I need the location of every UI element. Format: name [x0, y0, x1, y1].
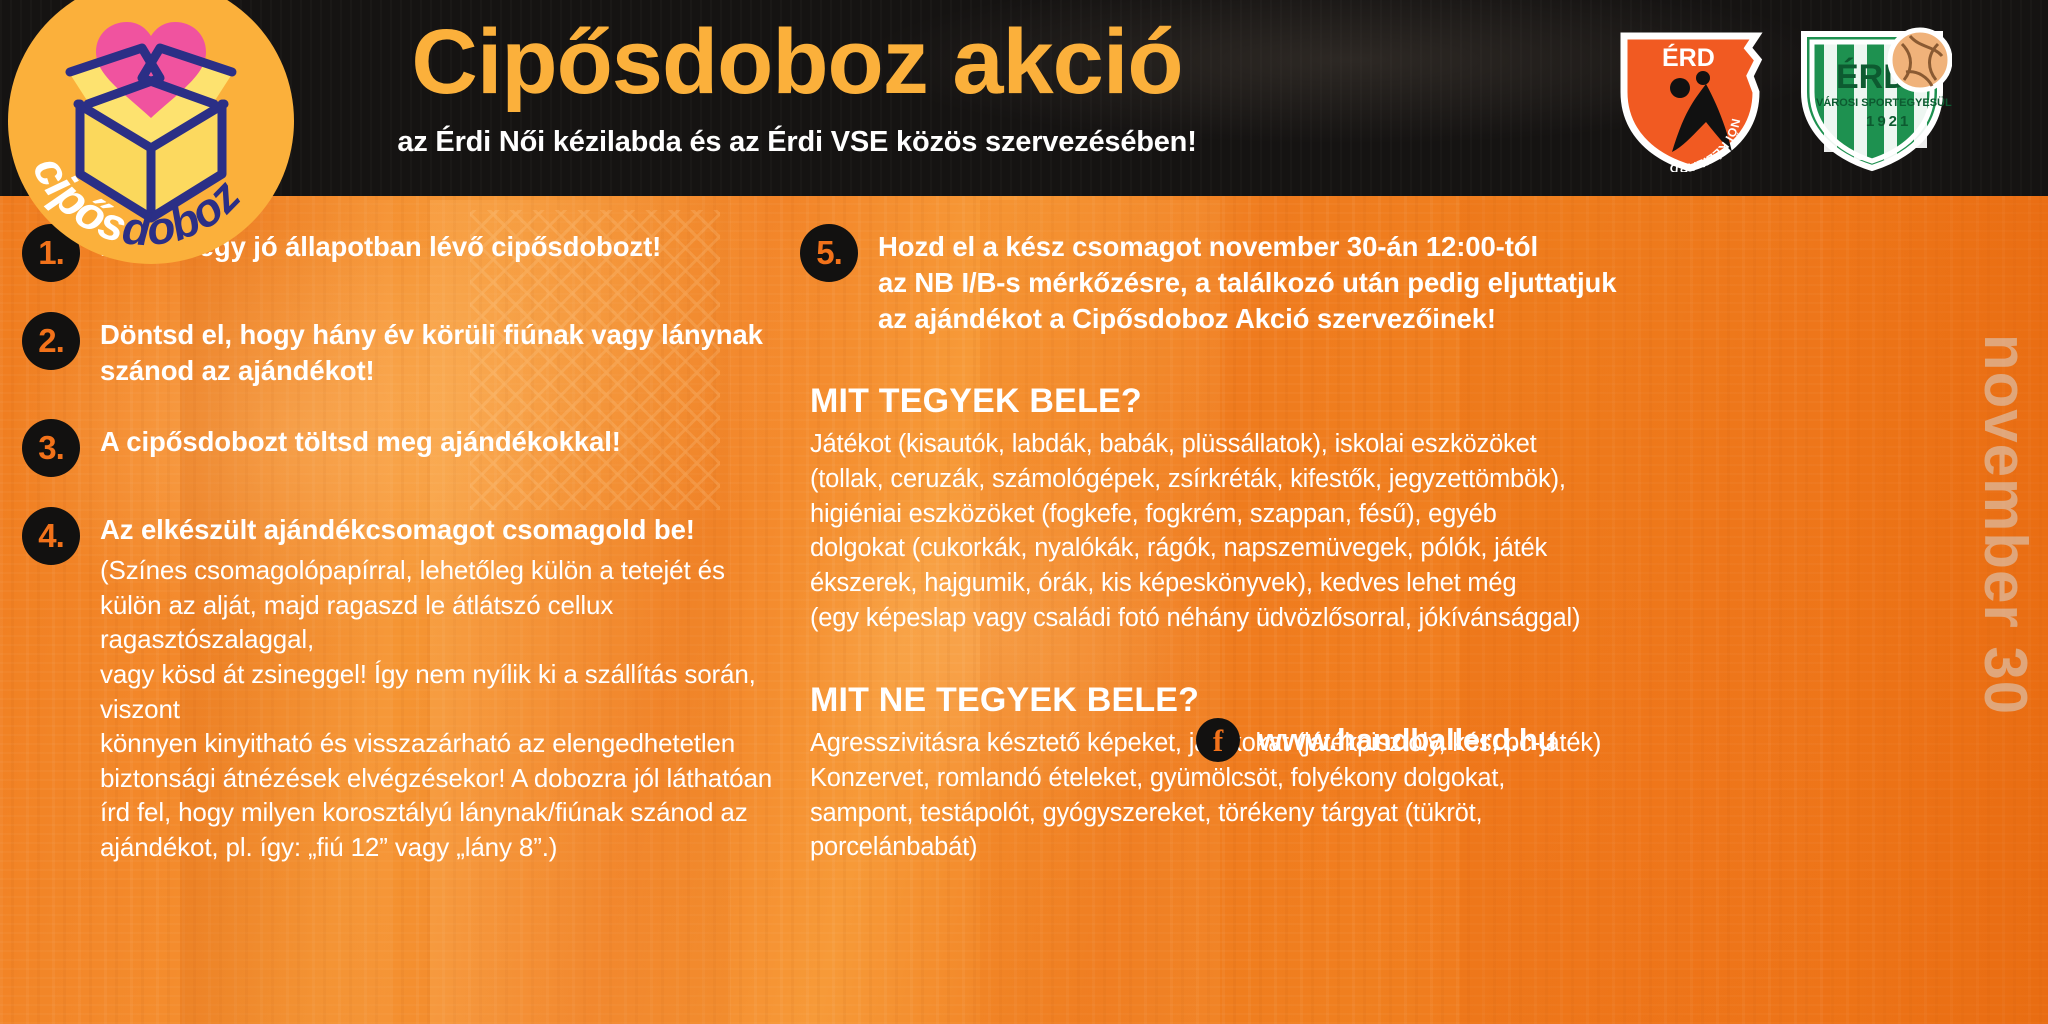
step-3: 3. A cipősdobozt töltsd meg ajándékokkal…	[22, 415, 782, 477]
step-2: 2. Döntsd el, hogy hány év körüli fiúnak…	[22, 308, 782, 389]
section-line: dolgokat (cukorkák, nyalókák, rágók, nap…	[810, 531, 1890, 566]
step-note-line: (Színes csomagolópapírral, lehetőleg kül…	[100, 553, 782, 588]
ciposdoboz-logo: cipős doboz	[8, 0, 294, 264]
page-subtitle: az Érdi Női kézilabda és az Érdi VSE köz…	[292, 126, 1302, 159]
section-mit-ne-tegyek-bele: MIT NE TEGYEK BELE? Agresszivitásra kész…	[800, 681, 1890, 865]
step-note-line: ajándékot, pl. így: „fiú 12” vagy „lány …	[100, 830, 782, 865]
crest-group: ÉRD NŐI KÉZILABDA ÉRD	[1610, 26, 2030, 172]
step-headline: Hozd el a kész csomagot november 30-án 1…	[878, 229, 1890, 265]
section-line: Konzervet, romlandó ételeket, gyümölcsöt…	[810, 761, 1890, 796]
step-number: 2.	[22, 312, 80, 370]
step-number: 3.	[22, 419, 80, 477]
footer-link[interactable]: f www.handballerd.hu	[1196, 718, 1556, 762]
step-number: 5.	[800, 224, 858, 282]
step-headline-cont: az ajándékot a Cipősdoboz Akció szervező…	[878, 301, 1890, 337]
page-title: Cipősdoboz akció	[292, 16, 1302, 108]
section-line: sampont, testápolót, gyógyszereket, töré…	[810, 796, 1890, 831]
crest-sub-label: VÁROSI SPORTEGYESÜLET	[1816, 96, 1952, 109]
step-headline-cont: az NB I/B-s mérkőzésre, a találkozó után…	[878, 265, 1890, 301]
step-headline-emphasis: november 30-án 12:00-tól	[1209, 231, 1538, 262]
section-line: Játékot (kisautók, labdák, babák, plüssá…	[810, 427, 1890, 462]
step-headline-part: Hozd el a kész csomagot	[878, 231, 1209, 262]
step-4: 4. Az elkészült ajándékcsomagot csomagol…	[22, 503, 782, 865]
crest-erd-label: ÉRD	[1662, 43, 1715, 72]
facebook-icon[interactable]: f	[1196, 718, 1240, 762]
steps-left-column: 1. Keress egy jó állapotban lévő cipősdo…	[22, 220, 782, 890]
section-title: MIT NE TEGYEK BELE?	[810, 681, 1890, 720]
section-title: MIT TEGYEK BELE?	[810, 382, 1890, 421]
section-line: (tollak, ceruzák, számológépek, zsírkrét…	[810, 462, 1890, 497]
section-line: (egy képeslap vagy családi fotó néhány ü…	[810, 601, 1890, 636]
erd-noi-kezilabda-crest: ÉRD NŐI KÉZILABDA	[1610, 26, 1770, 172]
vertical-date: november 30	[1958, 170, 2048, 910]
step-note: (Színes csomagolópapírral, lehetőleg kül…	[100, 553, 782, 864]
step-note-line: biztonsági átnézések elvégzésekor! A dob…	[100, 761, 782, 796]
section-line: higiéniai eszközöket (fogkefe, fogkrém, …	[810, 497, 1890, 532]
section-mit-tegyek-bele: MIT TEGYEK BELE? Játékot (kisautók, labd…	[800, 382, 1890, 635]
step-headline: Az elkészült ajándékcsomagot csomagold b…	[100, 512, 782, 548]
poster-root: november 30	[0, 0, 2048, 1024]
section-body: Játékot (kisautók, labdák, babák, plüssá…	[810, 427, 1890, 635]
step-number: 4.	[22, 507, 80, 565]
step-note-line: könnyen kinyitható és visszazárható az e…	[100, 726, 782, 761]
crest-year-label: 1921	[1866, 113, 1911, 130]
website-url[interactable]: www.handballerd.hu	[1258, 722, 1556, 758]
step-note-line: külön az alját, majd ragaszd le átlátszó…	[100, 588, 782, 657]
title-block: Cipősdoboz akció az Érdi Női kézilabda é…	[292, 16, 1302, 159]
section-line: porcelánbabát)	[810, 830, 1890, 865]
step-note-line: vagy kösd át zsineggel! Így nem nyílik k…	[100, 657, 782, 726]
vertical-date-label: november 30	[1972, 334, 2041, 715]
step-5: 5. Hozd el a kész csomagot november 30-á…	[800, 220, 1890, 336]
step-note-line: írd fel, hogy milyen korosztályú lánynak…	[100, 795, 782, 830]
section-line: ékszerek, hajgumik, órák, kis képeskönyv…	[810, 566, 1890, 601]
steps-right-column: 5. Hozd el a kész csomagot november 30-á…	[800, 220, 1890, 865]
step-headline: A cipősdobozt töltsd meg ajándékokkal!	[100, 424, 782, 460]
step-headline: Döntsd el, hogy hány év körüli fiúnak va…	[100, 317, 782, 389]
erd-vse-crest: ÉRD VÁROSI SPORTEGYESÜLET 1921	[1792, 26, 1952, 172]
